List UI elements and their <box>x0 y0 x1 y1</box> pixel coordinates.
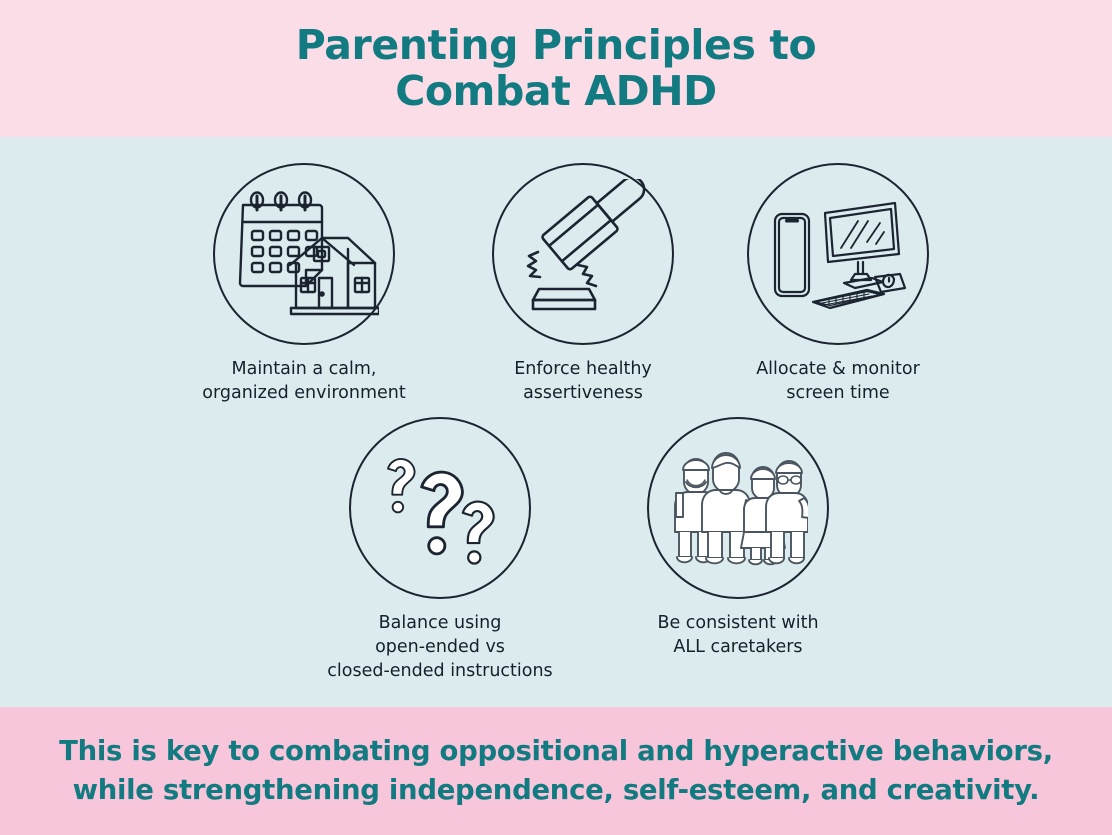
caption-line-1: Allocate & monitor <box>628 358 1048 382</box>
principle-card-screen-time: Allocate & monitor screen time <box>747 163 929 406</box>
icon-circle <box>647 417 829 599</box>
principle-card-open-vs-closed-instructions: Balance using open-ended vs closed-ended… <box>349 417 531 683</box>
icon-circle <box>349 417 531 599</box>
principle-caption: Allocate & monitor screen time <box>747 358 929 406</box>
principle-caption: Be consistent with ALL caretakers <box>647 612 829 660</box>
principle-caption: Balance using open-ended vs closed-ended… <box>349 612 531 683</box>
icon-circle <box>492 163 674 345</box>
footer-line-2: while strengthening independence, self-e… <box>59 771 1053 810</box>
infographic-page: Parenting Principles to Combat ADHD <box>0 0 1112 835</box>
caption-line-2: ALL caretakers <box>528 636 948 660</box>
page-title-line-1: Parenting Principles to <box>296 21 817 69</box>
footer-message: This is key to combating oppositional an… <box>45 732 1067 810</box>
icon-circle <box>747 163 929 345</box>
caption-line-3: closed-ended instructions <box>230 660 650 684</box>
footer-line-1: This is key to combating oppositional an… <box>59 732 1053 771</box>
page-title-line-2: Combat ADHD <box>296 69 817 115</box>
caption-line-2: screen time <box>628 382 1048 406</box>
screen-devices-icon <box>762 178 914 330</box>
principle-card-maintain-calm-environment: Maintain a calm, organized environment <box>213 163 395 406</box>
header-band: Parenting Principles to Combat ADHD <box>0 0 1112 137</box>
caption-line-1: Be consistent with <box>528 612 948 636</box>
footer-band: This is key to combating oppositional an… <box>0 707 1112 835</box>
principle-card-consistent-caretakers: Be consistent with ALL caretakers <box>647 417 829 660</box>
question-marks-icon <box>365 433 515 583</box>
principle-caption: Maintain a calm, organized environment <box>213 358 395 406</box>
gavel-icon <box>508 179 658 329</box>
page-title: Parenting Principles to Combat ADHD <box>256 23 857 115</box>
calendar-house-icon <box>229 179 379 329</box>
icon-circle <box>213 163 395 345</box>
family-group-icon <box>668 438 808 578</box>
